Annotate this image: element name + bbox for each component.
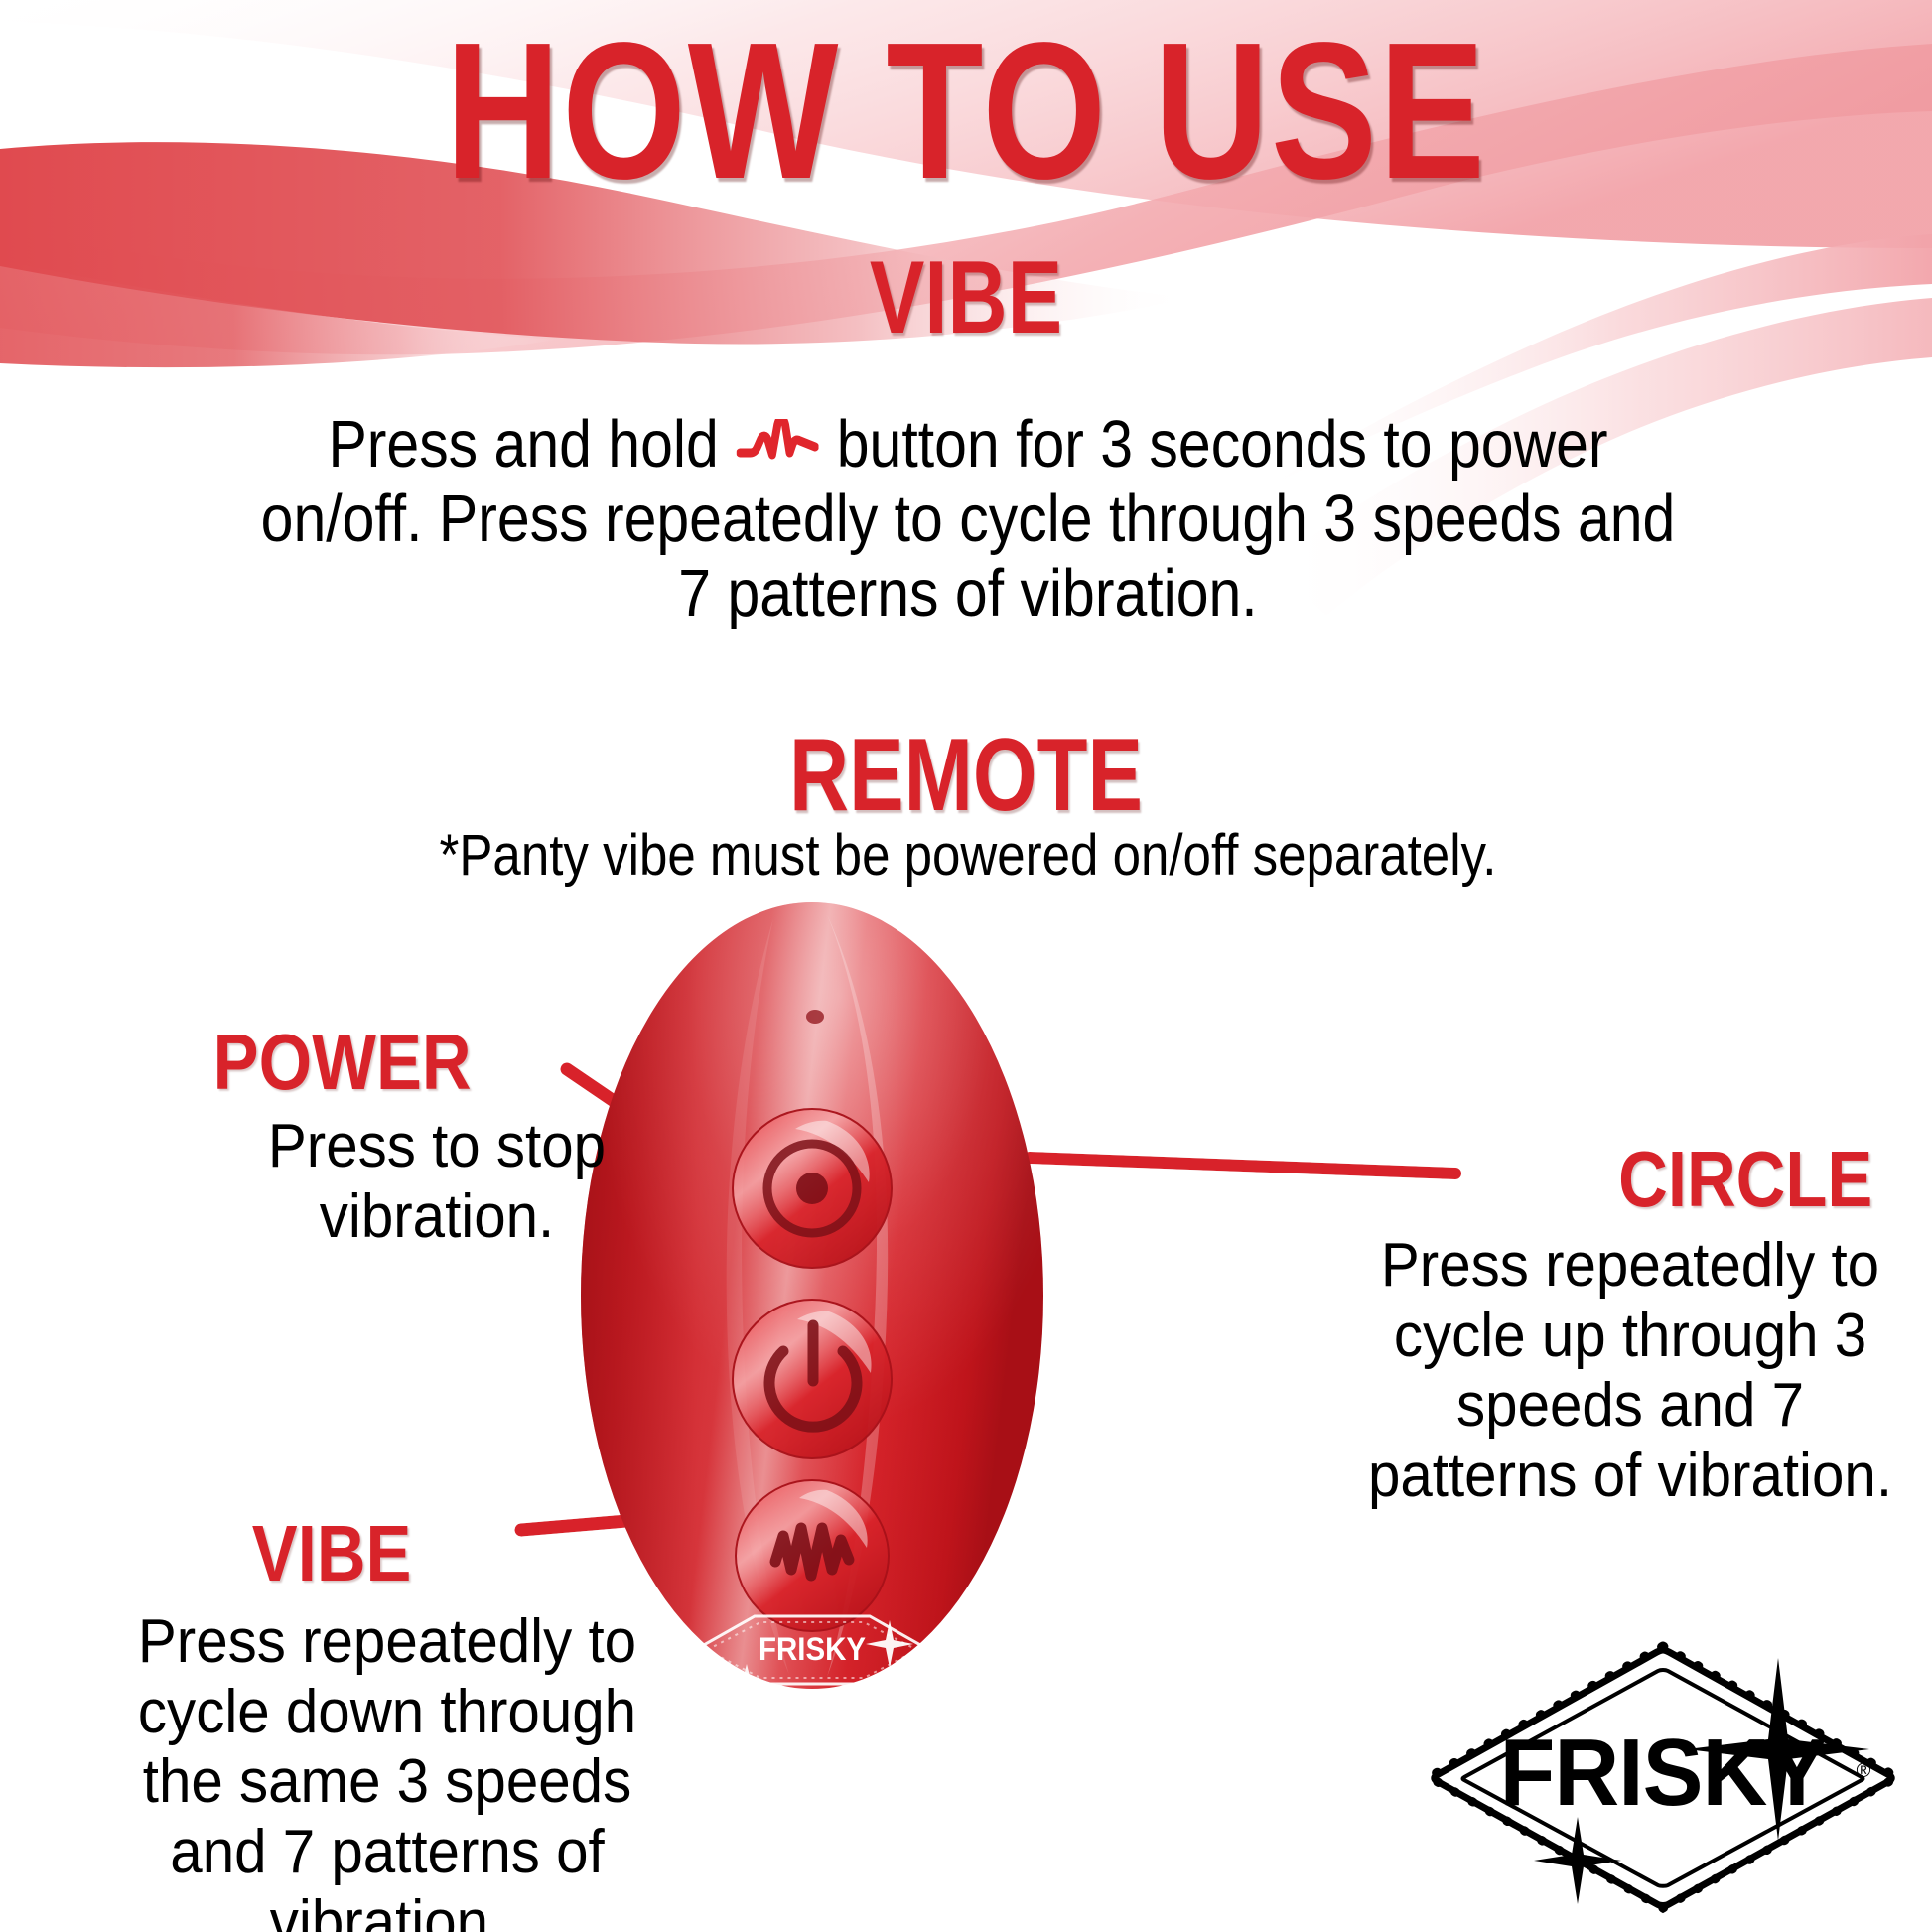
callout-vibe-body: Press repeatedly to cycle down through t… <box>98 1607 677 1932</box>
callout-power-body: Press to stop vibration. <box>176 1112 698 1252</box>
logo-sparkle-small <box>1534 1817 1621 1904</box>
callout-vibe: VIBE Press repeatedly to cycle down thro… <box>79 1514 695 1932</box>
device-brand-text: FRISKY <box>759 1631 866 1667</box>
callout-power-title: POWER <box>198 1023 676 1102</box>
vibe-text-before: Press and hold <box>328 407 735 482</box>
page-title: HOW TO USE <box>174 14 1758 208</box>
vibration-wave-icon <box>737 419 819 481</box>
led-indicator-dot <box>806 1010 824 1024</box>
callout-circle: CIRCLE Press repeatedly to cycle up thro… <box>1342 1140 1918 1512</box>
callout-vibe-title: VIBE <box>122 1514 651 1593</box>
section-heading-remote: REMOTE <box>194 717 1739 835</box>
power-button[interactable] <box>733 1300 892 1458</box>
vibe-instructions: Press and hold button for 3 seconds to p… <box>247 407 1689 630</box>
vibe-button[interactable] <box>736 1480 889 1631</box>
circle-button[interactable] <box>733 1109 892 1268</box>
callout-circle-body: Press repeatedly to cycle up through 3 s… <box>1359 1231 1900 1512</box>
remote-note: *Panty vibe must be powered on/off separ… <box>247 824 1689 889</box>
frisky-brand-logo: FRISKY ® <box>1403 1628 1919 1926</box>
callout-power: POWER Press to stop vibration. <box>159 1023 715 1252</box>
section-heading-vibe: VIBE <box>194 239 1739 357</box>
logo-registered-mark: ® <box>1857 1760 1871 1782</box>
how-to-use-infographic: HOW TO USE VIBE Press and hold button fo… <box>0 0 1932 1932</box>
callout-circle-title: CIRCLE <box>1383 1140 1878 1219</box>
